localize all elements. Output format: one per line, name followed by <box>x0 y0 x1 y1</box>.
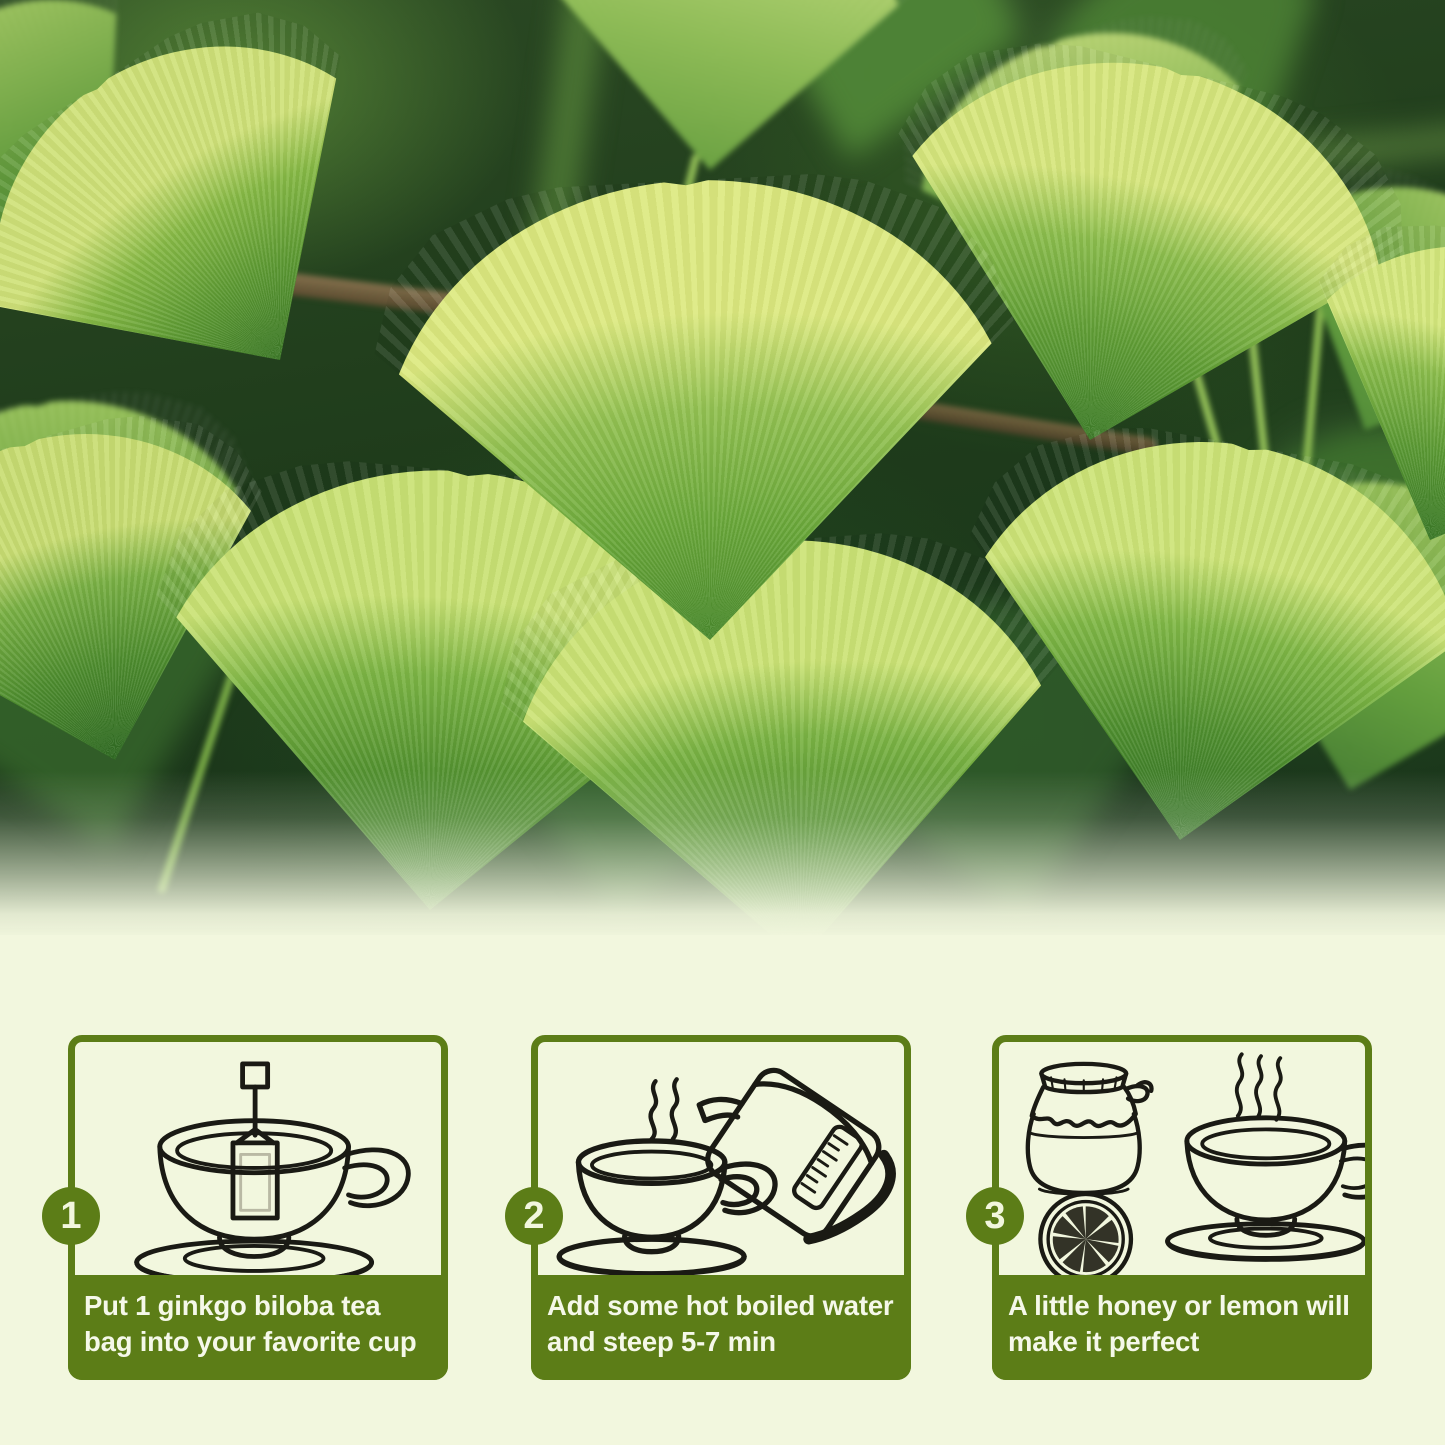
honey-jar-lemon-slice-and-steaming-cup-icon <box>999 1042 1365 1289</box>
step-number-badge-3: 3 <box>966 1187 1024 1245</box>
kettle-pouring-into-steaming-cup-icon <box>538 1042 904 1289</box>
step-caption-3: A little honey or lemon will make it per… <box>992 1275 1372 1380</box>
brewing-instructions-panel: 1 <box>0 935 1445 1445</box>
step-card-3: 3 <box>992 1035 1372 1380</box>
ginkgo-leaves-photo <box>0 0 1445 935</box>
step-caption-2: Add some hot boiled water and steep 5-7 … <box>531 1275 911 1380</box>
teacup-with-teabag-icon <box>75 1042 441 1289</box>
step-caption-1: Put 1 ginkgo biloba tea bag into your fa… <box>68 1275 448 1380</box>
step-card-2: 2 <box>531 1035 911 1380</box>
photo-foreground-leaves <box>0 0 1445 935</box>
step-number-badge-1: 1 <box>42 1187 100 1245</box>
step-number-badge-2: 2 <box>505 1187 563 1245</box>
product-infographic-page: 1 <box>0 0 1445 1445</box>
step-card-1: 1 <box>68 1035 448 1380</box>
